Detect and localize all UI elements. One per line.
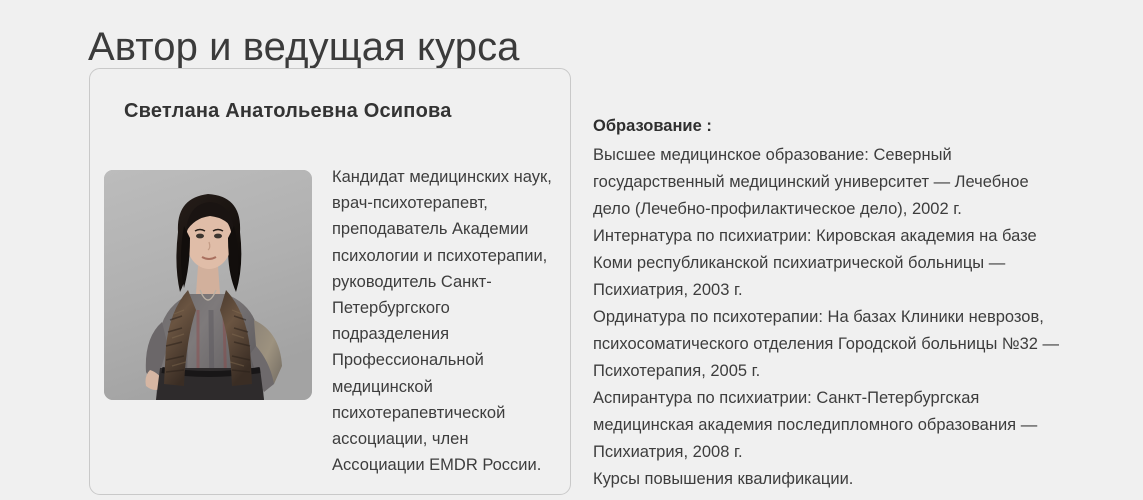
- author-name: Светлана Анатольевна Осипова: [124, 100, 452, 123]
- education-line: Аспирантура по психиатрии: Санкт-Петербу…: [593, 385, 1093, 412]
- education-lines: Высшее медицинское образование: Северный…: [593, 142, 1093, 493]
- education-line: Психиатрия, 2008 г.: [593, 439, 1093, 466]
- author-bio-text: Кандидат медицинских наук, врач-психотер…: [332, 164, 564, 478]
- education-line: психосоматического отделения Городской б…: [593, 331, 1093, 358]
- education-line: Высшее медицинское образование: Северный: [593, 142, 1093, 169]
- education-line: Ординатура по психотерапии: На базах Кли…: [593, 304, 1093, 331]
- author-card: Светлана Анатольевна Осипова: [89, 68, 571, 495]
- education-line: Психотерапия, 2005 г.: [593, 358, 1093, 385]
- education-line: дело (Лечебно-профилактическое дело), 20…: [593, 196, 1093, 223]
- author-portrait-photo: [104, 170, 312, 400]
- education-line: Курсы повышения квалификации.: [593, 466, 1093, 493]
- education-heading: Образование :: [593, 113, 1093, 140]
- education-line: Коми республиканской психиатрической бол…: [593, 250, 1093, 277]
- page-title: Автор и ведущая курса: [88, 21, 520, 73]
- portrait-photo-icon: [104, 170, 312, 400]
- education-line: медицинская академия последипломного обр…: [593, 412, 1093, 439]
- author-section: Автор и ведущая курса Светлана Анатольев…: [0, 0, 1143, 500]
- education-line: Психиатрия, 2003 г.: [593, 277, 1093, 304]
- education-line: Интернатура по психиатрии: Кировская ака…: [593, 223, 1093, 250]
- education-line: государственный медицинский университет …: [593, 169, 1093, 196]
- education-section: Образование : Высшее медицинское образов…: [593, 113, 1093, 493]
